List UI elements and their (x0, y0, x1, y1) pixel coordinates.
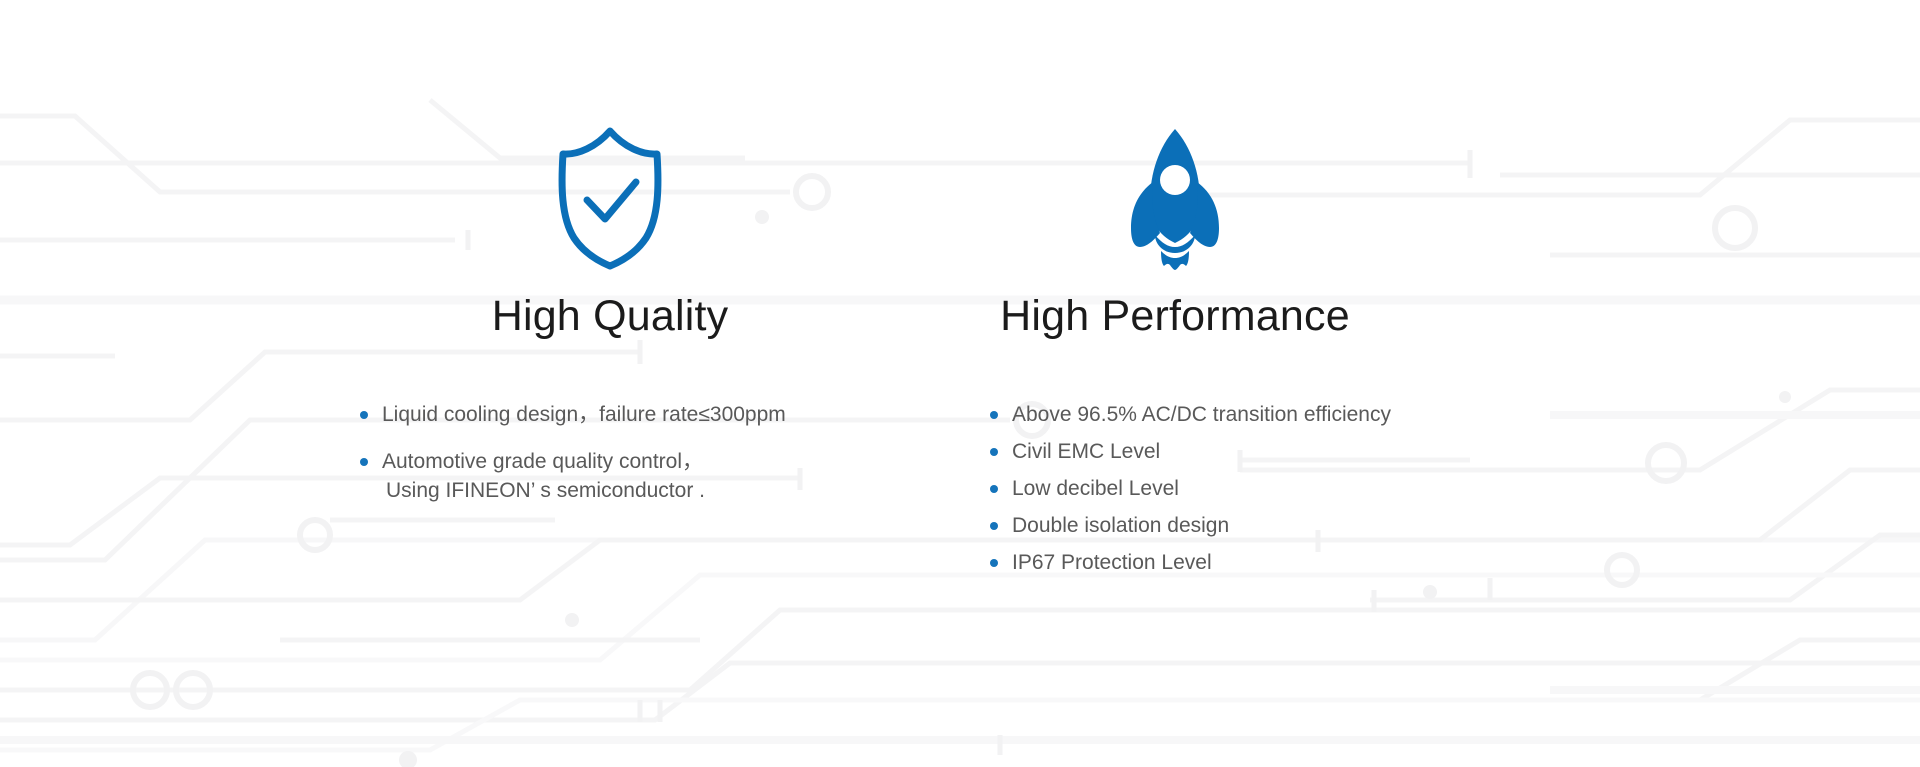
bullet-text: Liquid cooling design，failure rate≤300pp… (382, 403, 786, 426)
list-item: Above 96.5% AC/DC transition efficiency (990, 400, 1560, 429)
list-item: Civil EMC Level (990, 437, 1560, 466)
bullet-text: Automotive grade quality control， (382, 450, 703, 473)
feature-bullets-high-performance: Above 96.5% AC/DC transition efficiency … (990, 400, 1560, 585)
bullet-text: Above 96.5% AC/DC transition efficiency (1012, 403, 1391, 426)
shield-check-icon (556, 125, 664, 270)
feature-bullets-high-quality: Liquid cooling design，failure rate≤300pp… (360, 400, 890, 523)
list-item: Liquid cooling design，failure rate≤300pp… (360, 400, 890, 429)
list-item: Low decibel Level (990, 474, 1560, 503)
bullet-text: Double isolation design (1012, 514, 1229, 537)
feature-title-high-performance: High Performance (960, 292, 1390, 341)
list-item: Double isolation design (990, 511, 1560, 540)
bullet-text-continued: Using IFINEON’ s semiconductor . (382, 476, 890, 505)
feature-title-high-quality: High Quality (330, 292, 890, 341)
feature-list: High Quality Liquid cooling design，failu… (0, 0, 1920, 767)
bullet-text: IP67 Protection Level (1012, 551, 1212, 574)
rocket-icon (1126, 125, 1224, 270)
feature-highlights-banner: High Quality Liquid cooling design，failu… (0, 0, 1920, 767)
list-item: Automotive grade quality control，Using I… (360, 447, 890, 505)
shield-check-icon-container (330, 125, 890, 270)
list-item: IP67 Protection Level (990, 548, 1560, 577)
bullet-text: Low decibel Level (1012, 477, 1179, 500)
bullet-text: Civil EMC Level (1012, 440, 1160, 463)
rocket-icon-container (960, 125, 1390, 270)
